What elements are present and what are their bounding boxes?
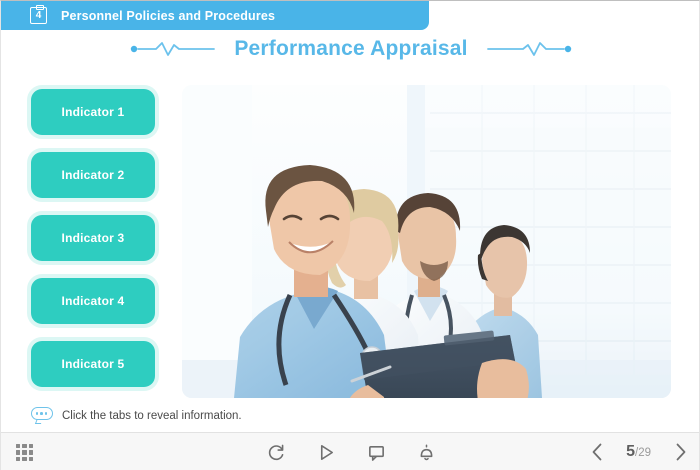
- lesson-title: Personnel Policies and Procedures: [61, 9, 275, 23]
- speech-bubble-dots: [36, 412, 48, 415]
- indicator-tab-3[interactable]: Indicator 3: [31, 215, 155, 261]
- pagination: 5 /29: [590, 433, 687, 470]
- comment-icon[interactable]: [366, 442, 386, 462]
- player-controls: [266, 433, 436, 470]
- indicator-tab-label: Indicator 4: [62, 294, 125, 308]
- player-footer: 5 /29: [1, 432, 700, 470]
- indicator-tab-5[interactable]: Indicator 5: [31, 341, 155, 387]
- replay-icon[interactable]: [266, 442, 286, 462]
- play-icon[interactable]: [316, 442, 336, 462]
- indicator-tab-label: Indicator 2: [62, 168, 125, 182]
- indicator-tab-1[interactable]: Indicator 1: [31, 89, 155, 135]
- next-slide-icon[interactable]: [673, 442, 687, 462]
- bell-icon[interactable]: [416, 442, 436, 462]
- indicator-tab-list: Indicator 1 Indicator 2 Indicator 3 Indi…: [31, 89, 155, 404]
- slide-canvas: 4 Personnel Policies and Procedures Perf…: [0, 0, 700, 470]
- hint-row: Click the tabs to reveal information.: [31, 407, 242, 424]
- clipboard-icon: 4: [30, 5, 49, 26]
- hint-text: Click the tabs to reveal information.: [62, 410, 242, 422]
- speech-bubble-icon: [31, 407, 53, 424]
- indicator-tab-label: Indicator 1: [62, 105, 125, 119]
- slide-title-row: Performance Appraisal: [1, 33, 700, 65]
- grid-menu-icon[interactable]: [16, 444, 33, 461]
- lesson-header-bar: 4 Personnel Policies and Procedures: [1, 1, 429, 30]
- heartbeat-decoration-right: [482, 40, 572, 58]
- indicator-tab-label: Indicator 5: [62, 357, 125, 371]
- indicator-tab-4[interactable]: Indicator 4: [31, 278, 155, 324]
- lesson-number: 4: [30, 10, 47, 22]
- total-page-count: /29: [635, 447, 651, 459]
- heartbeat-decoration-left: [130, 40, 220, 58]
- slide-photo: [182, 85, 671, 398]
- indicator-tab-label: Indicator 3: [62, 231, 125, 245]
- page-title: Performance Appraisal: [220, 37, 481, 61]
- indicator-tab-2[interactable]: Indicator 2: [31, 152, 155, 198]
- current-page-number: 5: [626, 443, 635, 461]
- previous-slide-icon[interactable]: [590, 442, 604, 462]
- page-indicator: 5 /29: [626, 443, 651, 461]
